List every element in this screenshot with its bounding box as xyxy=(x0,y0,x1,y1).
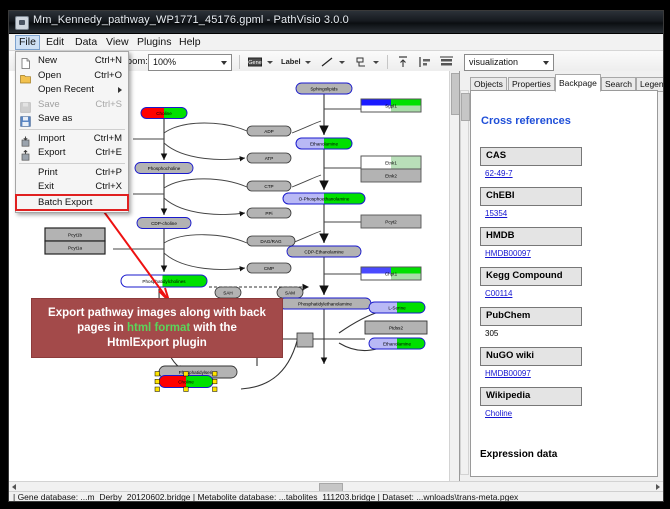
save-disk-icon xyxy=(20,100,31,111)
menu-view[interactable]: View xyxy=(102,36,133,49)
status-bar: | Gene database: ...m_Derby_20120602.bri… xyxy=(9,491,663,502)
xref-label-nugo-wiki: NuGO wiki xyxy=(480,347,582,366)
svg-text:Ptdss2: Ptdss2 xyxy=(389,326,403,331)
label-button[interactable]: Label xyxy=(281,57,301,66)
menu-item-open[interactable]: Open Ctrl+O xyxy=(16,69,128,84)
svg-text:CDP-choline: CDP-choline xyxy=(151,221,177,226)
annotation-line2-prefix: pages in xyxy=(77,322,127,334)
node-choline: Choline xyxy=(141,108,187,119)
node-cdp-ethanolamine: CDP-Ethanolamine xyxy=(287,246,361,257)
canvas-vertical-scrollbar[interactable] xyxy=(449,71,459,481)
menu-bar: File Edit Data View Plugins Help xyxy=(9,34,663,51)
status-text: | Gene database: ...m_Derby_20120602.bri… xyxy=(13,492,518,502)
svg-text:Sgpl1: Sgpl1 xyxy=(385,104,397,109)
menu-edit[interactable]: Edit xyxy=(42,36,68,49)
visualization-combobox[interactable]: visualization xyxy=(464,54,554,71)
xref-label-hmdb: HMDB xyxy=(480,227,582,246)
menu-data[interactable]: Data xyxy=(71,36,101,49)
menu-item-accelerator: Ctrl+P xyxy=(95,167,122,178)
xref-name: CAS xyxy=(486,150,506,161)
svg-text:Phosphatidylcholines: Phosphatidylcholines xyxy=(142,279,186,284)
node-cdp-choline: CDP-choline xyxy=(137,218,191,229)
interaction-tool-button[interactable] xyxy=(353,54,369,70)
node-ethanolamine: Ethanolamine xyxy=(296,138,352,149)
menu-item-accelerator: Ctrl+S xyxy=(95,99,122,110)
annotation-callout: Export pathway images along with back pa… xyxy=(31,298,283,358)
scroll-right-icon[interactable] xyxy=(656,484,660,490)
toolbar-separator xyxy=(239,55,240,69)
svg-text:O-Phosphoethanolamine: O-Phosphoethanolamine xyxy=(299,196,350,201)
menu-item-new[interactable]: New Ctrl+N xyxy=(16,54,128,69)
tab-backpage[interactable]: Backpage xyxy=(555,74,601,92)
menu-item-accelerator: Ctrl+M xyxy=(94,133,122,144)
expression-data-heading: Expression data xyxy=(480,449,557,460)
menu-item-batch-export[interactable]: Batch Export xyxy=(16,195,128,210)
align-top-button[interactable] xyxy=(395,54,411,70)
node-phosphatidylcholines: Phosphatidylcholines xyxy=(121,275,207,287)
app-icon xyxy=(15,16,29,30)
menu-item-label: Export xyxy=(38,147,65,158)
backpage-content: Cross references CAS 62-49-7 ChEBI 15354… xyxy=(470,90,658,477)
scrollbar-thumb[interactable] xyxy=(451,73,460,115)
svg-text:CMP: CMP xyxy=(264,266,274,271)
xref-value-chebi[interactable]: 15354 xyxy=(485,209,507,218)
svg-text:L-Serine: L-Serine xyxy=(388,305,406,310)
node-sah: SAH xyxy=(215,287,241,298)
menu-separator xyxy=(19,129,125,130)
svg-text:Etnk1: Etnk1 xyxy=(385,161,397,166)
menu-file[interactable]: File xyxy=(15,35,40,50)
pathway-connector-node xyxy=(297,333,313,347)
xref-value-hmdb[interactable]: HMDB00097 xyxy=(485,249,531,258)
svg-text:DAG/RAG: DAG/RAG xyxy=(260,239,282,244)
node-pcyt2: Pcyt2 xyxy=(361,215,421,228)
node-cmp: CMP xyxy=(247,263,291,273)
datanode-gene-button[interactable]: Gene xyxy=(247,54,263,70)
side-panel-scrollbar[interactable] xyxy=(460,90,469,475)
side-panel: Objects Properties Backpage Search Legen… xyxy=(460,71,663,481)
export-icon xyxy=(20,148,31,159)
menu-item-accelerator: Ctrl+E xyxy=(95,147,122,158)
xref-label-kegg-compound: Kegg Compound xyxy=(480,267,582,286)
visualization-value: visualization xyxy=(469,57,518,67)
node-ethanolamine-lower: Ethanolamine xyxy=(369,338,425,349)
menu-plugins[interactable]: Plugins xyxy=(133,36,175,49)
svg-text:Choline: Choline xyxy=(178,379,194,384)
svg-text:Ethanolamine: Ethanolamine xyxy=(310,141,339,146)
svg-text:SAM: SAM xyxy=(285,291,295,296)
chevron-down-icon xyxy=(543,61,549,65)
menu-item-open-recent[interactable]: Open Recent xyxy=(16,83,128,98)
node-ctp: CTP xyxy=(247,181,291,191)
node-sgpl1: Sgpl1 xyxy=(361,99,421,112)
svg-text:SAH: SAH xyxy=(223,291,232,296)
menu-item-label: Open xyxy=(38,70,61,81)
import-icon xyxy=(20,134,31,145)
node-ppi: PPi xyxy=(247,208,291,218)
xref-value-pubchem: 305 xyxy=(485,329,498,338)
menu-item-label: New xyxy=(38,55,57,66)
menu-help[interactable]: Help xyxy=(175,36,205,49)
menu-item-label: Save as xyxy=(38,113,72,124)
xref-value-kegg-compound[interactable]: C00114 xyxy=(485,289,512,298)
menu-item-label: Batch Export xyxy=(38,197,92,208)
scrollbar-thumb[interactable] xyxy=(461,93,470,121)
node-ptdss2: Ptdss2 xyxy=(365,321,427,334)
xref-name: Kegg Compound xyxy=(486,270,563,281)
svg-text:Ethanolamine: Ethanolamine xyxy=(383,341,412,346)
xref-name: PubChem xyxy=(486,310,530,321)
new-file-icon xyxy=(20,56,31,67)
svg-text:Chpt1: Chpt1 xyxy=(385,272,398,277)
menu-item-accelerator: Ctrl+X xyxy=(95,181,122,192)
align-left-button[interactable] xyxy=(417,54,433,70)
xref-value-cas[interactable]: 62-49-7 xyxy=(485,169,513,178)
node-chpt1: Chpt1 xyxy=(361,267,421,280)
node-sam: SAM xyxy=(277,287,303,298)
open-folder-icon xyxy=(20,71,31,82)
menu-item-exit[interactable]: Exit Ctrl+X xyxy=(16,180,128,195)
menu-item-accelerator: Ctrl+N xyxy=(95,55,122,66)
menu-item-save-as[interactable]: Save as xyxy=(16,112,128,127)
svg-text:Phosphatidylethanolamine: Phosphatidylethanolamine xyxy=(298,301,352,306)
node-etnk2: Etnk2 xyxy=(361,169,421,182)
chevron-down-icon xyxy=(221,61,227,65)
xref-label-cas: CAS xyxy=(480,147,582,166)
annotation-line3: HtmlExport plugin xyxy=(107,337,207,349)
annotation-text: Export pathway images along with back pa… xyxy=(42,306,272,351)
svg-text:Choline: Choline xyxy=(156,111,172,116)
node-phosphatidylethanolamine: Phosphatidylethanolamine xyxy=(279,298,371,309)
xref-name: ChEBI xyxy=(486,190,515,201)
node-phosphocholine: Phosphocholine xyxy=(135,163,193,174)
annotation-highlight: html format xyxy=(127,322,190,334)
zoom-value: 100% xyxy=(153,57,176,67)
submenu-arrow-icon xyxy=(118,87,122,93)
svg-text:Gene: Gene xyxy=(248,60,261,66)
label-dropdown-icon[interactable] xyxy=(305,61,311,64)
node-adp: ADP xyxy=(247,126,291,136)
stack-horizontal-button[interactable] xyxy=(439,54,455,70)
svg-text:Sphingolipids: Sphingolipids xyxy=(310,86,338,91)
svg-text:CDP-Ethanolamine: CDP-Ethanolamine xyxy=(304,249,344,254)
svg-text:Pcyt2: Pcyt2 xyxy=(385,220,397,225)
xref-name: HMDB xyxy=(486,230,515,241)
file-menu-dropdown: New Ctrl+N Open Ctrl+O Open Recent Save … xyxy=(15,51,129,213)
toolbar-separator xyxy=(387,55,388,69)
node-o-phosphoethanolamine: O-Phosphoethanolamine xyxy=(283,193,365,204)
menu-item-label: Save xyxy=(38,99,60,110)
menu-item-label: Import xyxy=(38,133,65,144)
window-title: Mm_Kennedy_pathway_WP1771_45176.gpml - P… xyxy=(33,14,349,26)
save-as-icon xyxy=(20,114,31,125)
menu-item-print[interactable]: Print Ctrl+P xyxy=(16,166,128,181)
menu-item-save: Save Ctrl+S xyxy=(16,98,128,113)
xref-name: Wikipedia xyxy=(486,390,530,401)
cross-references-heading: Cross references xyxy=(481,115,571,127)
datanode-dropdown-icon[interactable] xyxy=(267,61,273,64)
svg-text:PPi: PPi xyxy=(265,211,272,216)
title-bar: Mm_Kennedy_pathway_WP1771_45176.gpml - P… xyxy=(9,11,663,34)
annotation-line1: Export pathway images along with back xyxy=(48,307,266,319)
menu-item-label: Open Recent xyxy=(38,84,94,95)
svg-text:Phosphocholine: Phosphocholine xyxy=(148,166,181,171)
node-pcyt1a: Pcyt1a xyxy=(45,241,105,254)
svg-text:Etnk2: Etnk2 xyxy=(385,174,397,179)
xref-value-wikipedia[interactable]: Choline xyxy=(485,409,512,418)
svg-text:ATP: ATP xyxy=(265,156,274,161)
menu-item-accelerator: Ctrl+O xyxy=(94,70,122,81)
xref-label-wikipedia: Wikipedia xyxy=(480,387,582,406)
node-l-serine: L-Serine xyxy=(369,302,425,313)
line-dropdown-icon[interactable] xyxy=(339,61,345,64)
node-etnk1: Etnk1 xyxy=(361,156,421,169)
line-tool-button[interactable] xyxy=(319,54,335,70)
svg-text:ADP: ADP xyxy=(264,129,273,134)
xref-name: NuGO wiki xyxy=(486,350,534,361)
interaction-dropdown-icon[interactable] xyxy=(373,61,379,64)
scroll-left-icon[interactable] xyxy=(12,484,16,490)
menu-item-import[interactable]: Import Ctrl+M xyxy=(16,132,128,147)
zoom-combobox[interactable]: 100% xyxy=(148,54,232,71)
xref-label-pubchem: PubChem xyxy=(480,307,582,326)
pathvisio-window: Mm_Kennedy_pathway_WP1771_45176.gpml - P… xyxy=(8,10,664,502)
svg-text:CTP: CTP xyxy=(264,184,273,189)
node-dag-rag: DAG/RAG xyxy=(247,236,295,246)
menu-item-label: Exit xyxy=(38,181,54,192)
node-atp: ATP xyxy=(247,153,291,163)
svg-text:Pcyt1a: Pcyt1a xyxy=(68,246,82,251)
menu-separator xyxy=(19,163,125,164)
xref-value-nugo-wiki[interactable]: HMDB00097 xyxy=(485,369,531,378)
svg-text:Pcyt1b: Pcyt1b xyxy=(68,233,82,238)
node-pcyt1b: Pcyt1b xyxy=(45,228,105,241)
screenshot-root: Mm_Kennedy_pathway_WP1771_45176.gpml - P… xyxy=(0,0,670,509)
menu-item-label: Print xyxy=(38,167,58,178)
menu-item-export[interactable]: Export Ctrl+E xyxy=(16,146,128,161)
node-sphingolipids: Sphingolipids xyxy=(296,83,352,94)
xref-label-chebi: ChEBI xyxy=(480,187,582,206)
annotation-line2-suffix: with the xyxy=(190,322,237,334)
